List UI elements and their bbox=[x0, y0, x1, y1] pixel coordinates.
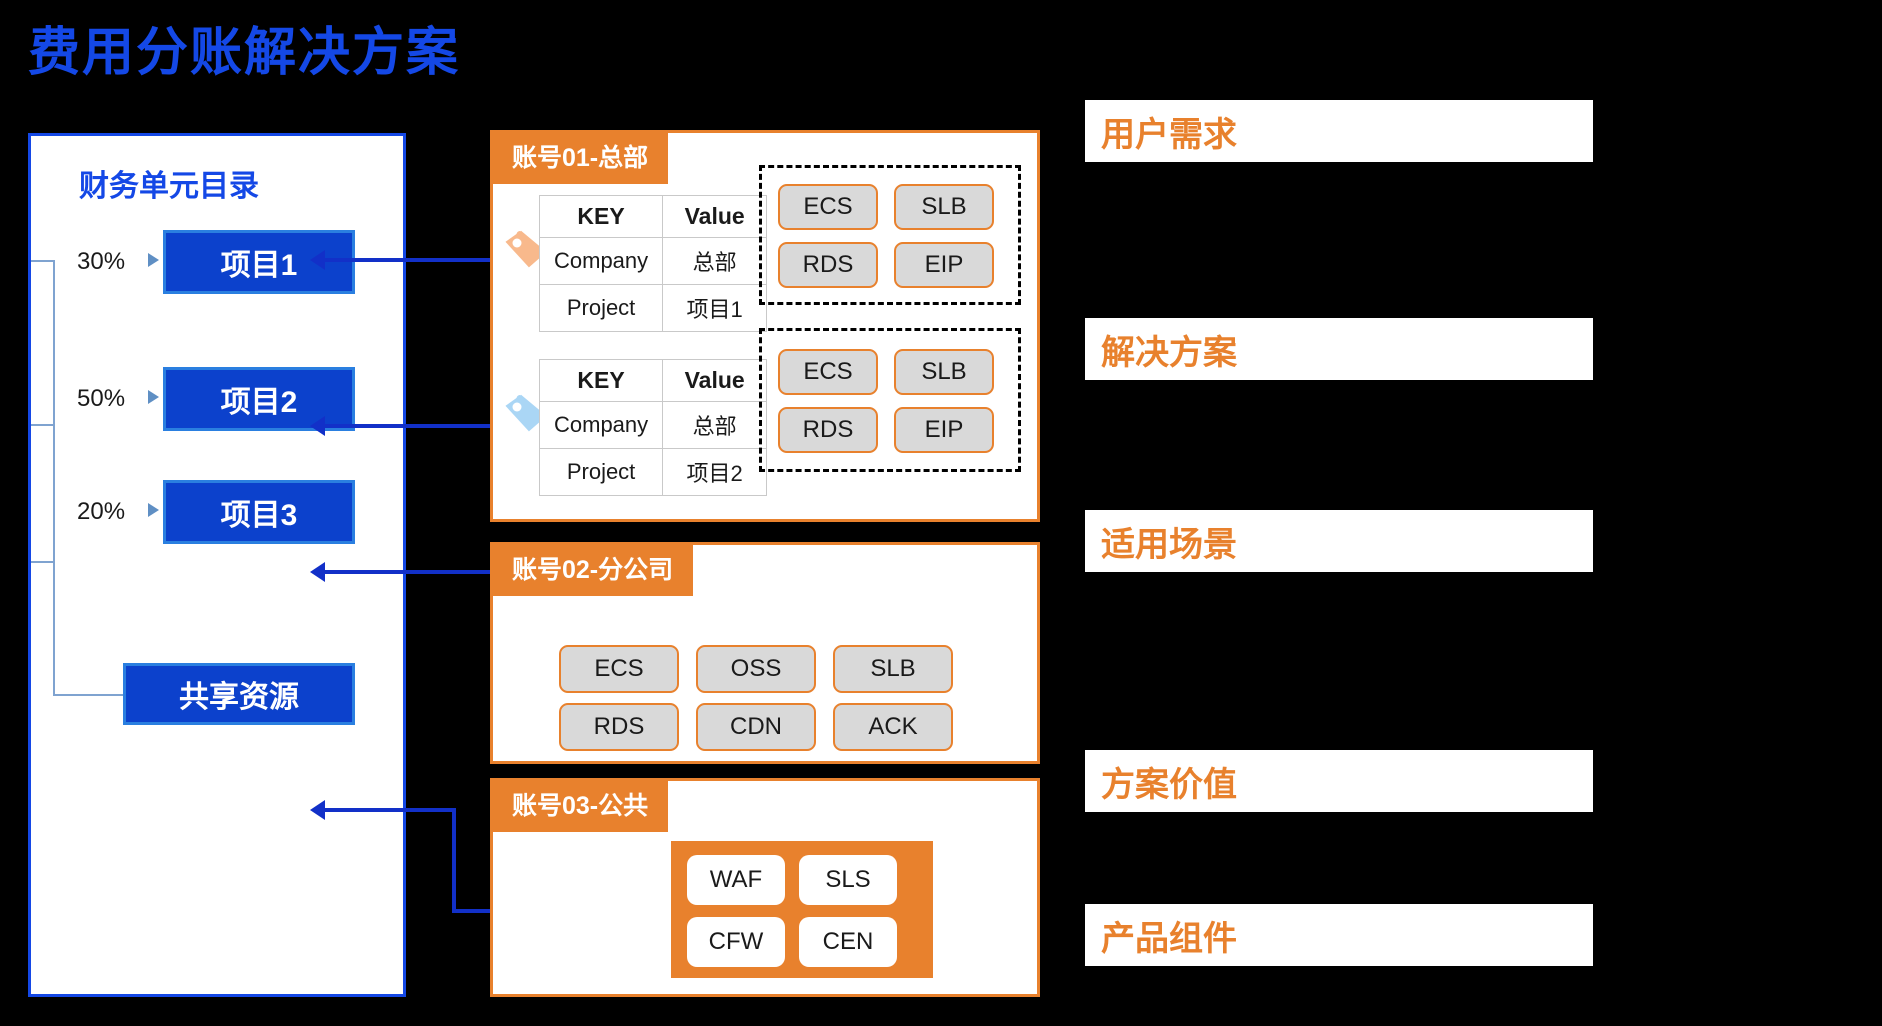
table-cell-value: 总部 bbox=[663, 402, 767, 449]
right-bar-value[interactable]: 方案价值 bbox=[1085, 750, 1593, 812]
tree-stub-3 bbox=[31, 561, 53, 563]
table-row: Company 总部 bbox=[540, 238, 767, 285]
service-chip-label: ECS bbox=[803, 193, 852, 221]
account-03-header: 账号03-公共 bbox=[490, 778, 668, 832]
service-chip-label: SLB bbox=[921, 193, 966, 221]
service-chip-label: SLB bbox=[921, 358, 966, 386]
service-chip-rds[interactable]: RDS bbox=[559, 703, 679, 751]
service-chip-label: ECS bbox=[594, 655, 643, 683]
right-bar-solution[interactable]: 解决方案 bbox=[1085, 318, 1593, 380]
service-chip-cen[interactable]: CEN bbox=[799, 917, 897, 967]
service-chip-label: SLS bbox=[825, 866, 870, 894]
right-bar-label: 解决方案 bbox=[1085, 325, 1237, 374]
connector-line-shared-v bbox=[452, 808, 456, 913]
service-chip-cfw[interactable]: CFW bbox=[687, 917, 785, 967]
connector-line-shared-h1 bbox=[324, 808, 456, 812]
service-chip-cdn[interactable]: CDN bbox=[696, 703, 816, 751]
service-chip-label: CFW bbox=[709, 928, 764, 956]
tree-stub-2 bbox=[31, 424, 53, 426]
tag-table-1: KEY Value Company 总部 Project 项目1 bbox=[539, 195, 767, 332]
service-chip-ecs[interactable]: ECS bbox=[778, 184, 878, 230]
table-cell-key: Project bbox=[540, 449, 663, 496]
service-chip-label: EIP bbox=[925, 416, 964, 444]
finance-unit-heading: 财务单元目录 bbox=[79, 161, 259, 205]
tree-arrow-3 bbox=[148, 503, 159, 517]
right-bar-label: 方案价值 bbox=[1085, 757, 1237, 806]
tag-table-2: KEY Value Company 总部 Project 项目2 bbox=[539, 359, 767, 496]
table-cell-key: Company bbox=[540, 238, 663, 285]
tree-stub-1 bbox=[31, 260, 53, 262]
service-chip-label: EIP bbox=[925, 251, 964, 279]
connector-line-project3 bbox=[324, 570, 514, 574]
account-card-03: 账号03-公共 WAF SLS CFW CEN bbox=[490, 778, 1040, 997]
table-header-value: Value bbox=[663, 196, 767, 238]
percent-label-2: 50% bbox=[77, 385, 125, 413]
service-chip-slb[interactable]: SLB bbox=[894, 349, 994, 395]
right-bar-scenario[interactable]: 适用场景 bbox=[1085, 510, 1593, 572]
table-cell-key: Company bbox=[540, 402, 663, 449]
table-header-value: Value bbox=[663, 360, 767, 402]
table-header-key: KEY bbox=[540, 360, 663, 402]
service-chip-label: RDS bbox=[803, 416, 854, 444]
right-bar-label: 产品组件 bbox=[1085, 911, 1237, 960]
right-bar-components[interactable]: 产品组件 bbox=[1085, 904, 1593, 966]
public-resource-group: WAF SLS CFW CEN bbox=[671, 841, 933, 978]
service-chip-label: WAF bbox=[710, 866, 762, 894]
finance-unit-panel: 财务单元目录 30% 50% 20% 项目1 项目2 项目3 共享资源 bbox=[28, 133, 406, 997]
service-group-dashed-2: ECS SLB RDS EIP bbox=[759, 328, 1021, 472]
account-01-header: 账号01-总部 bbox=[490, 130, 668, 184]
service-chip-eip[interactable]: EIP bbox=[894, 242, 994, 288]
table-row: Company 总部 bbox=[540, 402, 767, 449]
connector-arrow-project1 bbox=[310, 250, 325, 270]
table-cell-value: 项目1 bbox=[663, 285, 767, 332]
tree-branch-shared bbox=[53, 694, 123, 696]
project-box-label: 项目1 bbox=[221, 240, 298, 284]
account-card-02: 账号02-分公司 ECS OSS SLB RDS CDN ACK bbox=[490, 542, 1040, 764]
percent-label-3: 20% bbox=[77, 498, 125, 526]
service-chip-rds[interactable]: RDS bbox=[778, 407, 878, 453]
service-chip-label: SLB bbox=[870, 655, 915, 683]
page-title: 费用分账解决方案 bbox=[28, 10, 460, 85]
service-chip-sls[interactable]: SLS bbox=[799, 855, 897, 905]
table-cell-key: Project bbox=[540, 285, 663, 332]
service-chip-slb[interactable]: SLB bbox=[833, 645, 953, 693]
connector-arrow-project3 bbox=[310, 562, 325, 582]
account-02-header: 账号02-分公司 bbox=[490, 542, 693, 596]
percent-label-1: 30% bbox=[77, 248, 125, 276]
service-chip-label: ECS bbox=[803, 358, 852, 386]
connector-arrow-project2 bbox=[310, 416, 325, 436]
table-cell-value: 项目2 bbox=[663, 449, 767, 496]
service-chip-eip[interactable]: EIP bbox=[894, 407, 994, 453]
service-group-dashed-1: ECS SLB RDS EIP bbox=[759, 165, 1021, 305]
connector-arrow-shared bbox=[310, 800, 325, 820]
project-box-label: 项目2 bbox=[221, 377, 298, 421]
service-chip-label: RDS bbox=[594, 713, 645, 741]
service-chip-label: ACK bbox=[868, 713, 917, 741]
service-chip-ecs[interactable]: ECS bbox=[559, 645, 679, 693]
service-chip-ack[interactable]: ACK bbox=[833, 703, 953, 751]
table-row: Project 项目2 bbox=[540, 449, 767, 496]
project-box-1[interactable]: 项目1 bbox=[163, 230, 355, 294]
shared-resource-box[interactable]: 共享资源 bbox=[123, 663, 355, 725]
project-box-label: 项目3 bbox=[221, 490, 298, 534]
service-chip-label: OSS bbox=[731, 655, 782, 683]
project-box-2[interactable]: 项目2 bbox=[163, 367, 355, 431]
right-bar-label: 适用场景 bbox=[1085, 517, 1237, 566]
service-chip-label: CEN bbox=[823, 928, 874, 956]
service-chip-label: CDN bbox=[730, 713, 782, 741]
service-chip-label: RDS bbox=[803, 251, 854, 279]
right-bar-label: 用户需求 bbox=[1085, 107, 1237, 156]
right-bar-user-needs[interactable]: 用户需求 bbox=[1085, 100, 1593, 162]
service-chip-waf[interactable]: WAF bbox=[687, 855, 785, 905]
service-chip-rds[interactable]: RDS bbox=[778, 242, 878, 288]
tree-arrow-2 bbox=[148, 390, 159, 404]
project-box-3[interactable]: 项目3 bbox=[163, 480, 355, 544]
account-card-01: 账号01-总部 KEY Value Company 总部 Project 项目1 bbox=[490, 130, 1040, 522]
service-chip-oss[interactable]: OSS bbox=[696, 645, 816, 693]
table-header-key: KEY bbox=[540, 196, 663, 238]
service-chip-slb[interactable]: SLB bbox=[894, 184, 994, 230]
table-row: Project 项目1 bbox=[540, 285, 767, 332]
tree-trunk-line bbox=[53, 260, 55, 695]
service-chip-ecs[interactable]: ECS bbox=[778, 349, 878, 395]
tree-arrow-1 bbox=[148, 253, 159, 267]
shared-resource-label: 共享资源 bbox=[179, 672, 299, 716]
table-cell-value: 总部 bbox=[663, 238, 767, 285]
